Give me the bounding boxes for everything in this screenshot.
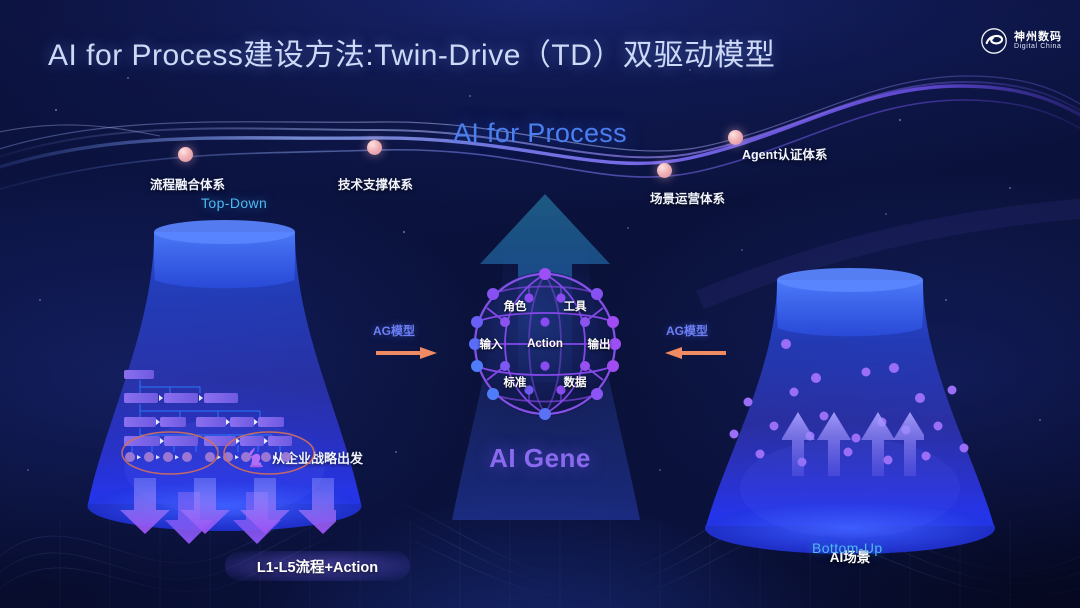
- molecule-node-output: 输出: [588, 336, 611, 352]
- wave-node-dot-4: [728, 130, 743, 145]
- brand-logo: 神州数码 Digital China: [981, 28, 1062, 54]
- ag-arrow-right-icon: [376, 346, 438, 360]
- digital-china-swirl-icon: [981, 28, 1007, 54]
- wave-node-label-4: Agent认证体系: [742, 144, 827, 163]
- wave-node-dot-2: [367, 140, 382, 155]
- wave-node-dot-3: [657, 163, 672, 178]
- molecule-node-input: 输入: [480, 336, 503, 352]
- ag-model-label-left: AG模型: [373, 322, 415, 339]
- logo-name-en: Digital China: [1014, 43, 1062, 50]
- process-level-pill: L1-L5流程+Action: [225, 551, 410, 581]
- molecule-node-action: Action: [527, 338, 563, 350]
- slide-canvas: AI for Process建设方法:Twin-Drive（TD）双驱动模型 神…: [0, 0, 1080, 608]
- center-headline: AI for Process: [0, 118, 1080, 149]
- molecule-node-role: 角色: [504, 298, 527, 314]
- molecule-node-data: 数据: [564, 374, 587, 390]
- molecule-node-tool: 工具: [564, 298, 587, 314]
- page-title: AI for Process建设方法:Twin-Drive（TD）双驱动模型: [48, 30, 775, 74]
- wave-node-dot-1: [178, 147, 193, 162]
- up-arrows: [782, 410, 924, 478]
- top-down-label: Top-Down: [201, 195, 267, 211]
- ai-gene-molecule: 角色 工具 输入 Action 输出 标准 数据: [463, 264, 627, 424]
- down-arrows-lower: [114, 476, 336, 538]
- logo-name-cn: 神州数码: [1014, 32, 1062, 44]
- wave-node-label-3: 场景运营体系: [650, 188, 725, 207]
- wave-node-label-2: 技术支撑体系: [338, 174, 413, 193]
- molecule-node-standard: 标准: [504, 374, 527, 390]
- wave-node-label-1: 流程融合体系: [150, 174, 225, 193]
- bottom-up-label: Bottom-Up: [812, 540, 883, 556]
- top-down-funnel: 从企业战略出发 L1-L5流程+Action: [72, 218, 377, 538]
- bottom-up-funnel: AI场景: [690, 268, 1010, 558]
